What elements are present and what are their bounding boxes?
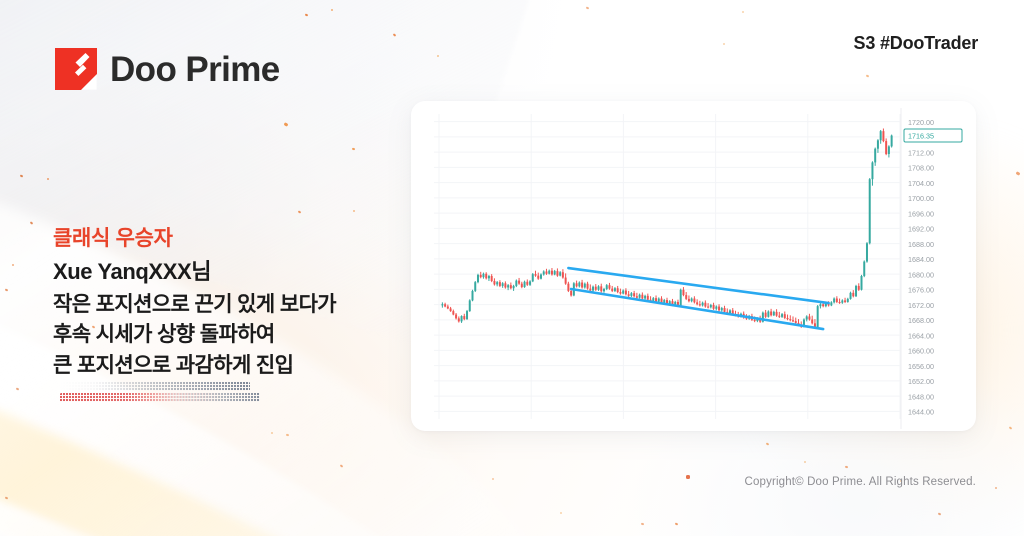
price-tick-label: 1676.00: [908, 286, 934, 295]
candle-body: [499, 282, 501, 286]
candle-body: [729, 310, 731, 313]
candle-body: [488, 276, 490, 278]
confetti-speck: [675, 523, 679, 526]
candle-body: [855, 286, 857, 296]
candle-body: [537, 276, 539, 279]
doo-prime-mark-icon: [55, 48, 97, 90]
candle-body: [819, 304, 821, 306]
candle-body: [540, 275, 542, 279]
confetti-speck: [866, 74, 870, 77]
candle-body: [559, 272, 561, 275]
price-tick-label: 1712.00: [908, 148, 934, 157]
candle-body: [598, 286, 600, 289]
candle-body: [778, 316, 780, 317]
confetti-speck: [298, 210, 302, 213]
candle-body: [808, 316, 810, 319]
candle-body: [647, 296, 649, 300]
candle-body: [644, 296, 646, 299]
candle-body: [811, 319, 813, 323]
redacted-detail-bar: [60, 382, 260, 408]
candle-body: [441, 304, 443, 305]
confetti-speck: [12, 264, 14, 266]
candle-body: [781, 314, 783, 317]
price-tick-label: 1656.00: [908, 362, 934, 371]
candle-body: [576, 283, 578, 286]
price-tick-label: 1720.00: [908, 118, 934, 127]
candle-body: [877, 140, 879, 148]
candle-body: [567, 284, 569, 291]
trading-chart-card: 1720.001716.001712.001708.001704.001700.…: [411, 101, 976, 431]
candle-body: [455, 315, 457, 319]
candle-body: [784, 314, 786, 318]
candle-body: [718, 307, 720, 311]
redaction-gray-row-2: [155, 393, 260, 402]
candle-body: [587, 284, 589, 289]
candle-body: [885, 141, 887, 154]
candle-body: [548, 271, 550, 274]
candle-body: [628, 294, 630, 296]
confetti-speck: [271, 432, 273, 434]
candle-body: [562, 272, 564, 277]
candle-body: [691, 299, 693, 302]
confetti-speck: [353, 210, 355, 212]
candle-body: [543, 271, 545, 274]
candle-body: [524, 282, 526, 287]
price-tick-label: 1680.00: [908, 270, 934, 279]
candle-body: [603, 289, 605, 291]
price-tick-label: 1700.00: [908, 194, 934, 203]
price-tick-label: 1660.00: [908, 347, 934, 356]
candle-body: [713, 305, 715, 309]
candle-body: [721, 308, 723, 310]
candle-body: [863, 262, 865, 276]
candle-body: [496, 282, 498, 284]
candle-body: [482, 274, 484, 277]
candle-body: [600, 286, 602, 291]
candle-body: [882, 131, 884, 141]
award-description-line-1: 작은 포지션으로 끈기 있게 보다가: [53, 290, 336, 320]
candle-body: [444, 304, 446, 306]
candle-body: [850, 293, 852, 299]
candle-body: [693, 299, 695, 303]
candle-body: [474, 282, 476, 291]
candle-body: [578, 283, 580, 287]
candle-body: [502, 283, 504, 286]
candle-body: [565, 278, 567, 284]
candle-body: [556, 271, 558, 276]
candle-body: [529, 281, 531, 284]
candle-body: [663, 300, 665, 303]
candle-body: [625, 291, 627, 295]
candle-body: [447, 307, 449, 309]
price-tick-label: 1644.00: [908, 408, 934, 417]
candle-body: [507, 285, 509, 287]
candle-body: [570, 291, 572, 296]
candle-body: [521, 284, 523, 287]
candle-body: [491, 276, 493, 281]
candle-body: [871, 162, 873, 179]
confetti-speck: [20, 174, 24, 177]
candle-body: [518, 281, 520, 284]
candle-body: [844, 300, 846, 302]
candle-body: [608, 285, 610, 288]
confetti-speck: [804, 461, 806, 463]
confetti-speck: [16, 387, 20, 390]
chart-canvas[interactable]: 1720.001716.001712.001708.001704.001700.…: [411, 101, 976, 431]
candle-body: [891, 136, 893, 147]
redaction-gray-row: [60, 382, 250, 391]
candle-body: [463, 316, 465, 319]
confetti-speck: [47, 178, 49, 180]
winner-name: Xue YanqXXX님: [53, 258, 336, 287]
candle-body: [699, 304, 701, 305]
candle-body: [858, 286, 860, 290]
price-tick-label: 1664.00: [908, 331, 934, 340]
price-tick-label: 1708.00: [908, 164, 934, 173]
candle-body: [461, 316, 463, 321]
confetti-speck: [5, 289, 9, 292]
candle-body: [847, 299, 849, 302]
candle-body: [770, 311, 772, 315]
candle-body: [551, 271, 553, 275]
candle-body: [545, 271, 547, 273]
candle-body: [622, 291, 624, 294]
candle-body: [581, 283, 583, 288]
candle-body: [817, 306, 819, 327]
candle-body: [888, 146, 890, 154]
candle-body: [554, 271, 556, 274]
descending-channel-lower: [571, 289, 823, 329]
candle-body: [452, 311, 454, 314]
candle-body: [504, 283, 506, 287]
award-title: 클래식 우승자: [53, 226, 336, 252]
candle-body: [767, 311, 769, 316]
candle-body: [874, 149, 876, 163]
confetti-speck: [845, 466, 848, 469]
candle-body: [477, 275, 479, 282]
candle-body: [680, 290, 682, 306]
candle-body: [652, 298, 654, 301]
award-copy-block: 클래식 우승자 Xue YanqXXX님 작은 포지션으로 끈기 있게 보다가 …: [53, 226, 336, 381]
confetti-speck: [331, 9, 333, 11]
candle-body: [789, 319, 791, 320]
price-axis-labels: 1720.001716.001712.001708.001704.001700.…: [908, 118, 934, 417]
candle-body: [458, 318, 460, 321]
confetti-speck: [437, 55, 439, 57]
candle-body: [795, 321, 797, 323]
candle-body: [592, 287, 594, 291]
candle-body: [450, 308, 452, 311]
price-tick-label: 1688.00: [908, 240, 934, 249]
candle-body: [589, 289, 591, 291]
copyright-text: Copyright© Doo Prime. All Rights Reserve…: [745, 476, 976, 488]
candle-body: [493, 281, 495, 284]
candle-body: [715, 307, 717, 309]
candle-body: [836, 299, 838, 302]
confetti-speck: [686, 475, 690, 479]
confetti-speck: [586, 7, 590, 10]
candle-body: [707, 307, 709, 308]
candle-body: [485, 274, 487, 279]
candle-body: [641, 295, 643, 299]
last-price-marker: 1716.35: [904, 129, 962, 142]
candle-body: [510, 285, 512, 288]
candle-body: [869, 179, 871, 243]
candle-body: [513, 286, 515, 288]
last-price-label: 1716.35: [908, 132, 934, 141]
confetti-speck: [305, 14, 309, 17]
candle-body: [776, 312, 778, 316]
candle-body: [480, 275, 482, 277]
confetti-speck: [286, 434, 289, 437]
candle-body: [630, 293, 632, 296]
candle-body: [822, 304, 824, 306]
candle-body: [704, 303, 706, 307]
award-description-line-3: 큰 포지션으로 과감하게 진입: [53, 351, 336, 381]
price-tick-label: 1672.00: [908, 301, 934, 310]
winner-announcement-card: Doo Prime S3 #DooTrader 클래식 우승자 Xue Yanq…: [0, 0, 1024, 536]
confetti-speck: [492, 478, 494, 480]
price-tick-label: 1652.00: [908, 377, 934, 386]
price-tick-label: 1692.00: [908, 225, 934, 234]
brand-logo: Doo Prime: [55, 48, 280, 90]
confetti-speck: [723, 43, 725, 45]
price-tick-label: 1696.00: [908, 209, 934, 218]
candle-body: [688, 299, 690, 301]
candle-body: [852, 293, 854, 296]
candle-body: [535, 274, 537, 276]
candle-body: [696, 302, 698, 304]
candle-body: [614, 288, 616, 291]
confetti-speck: [393, 33, 397, 36]
candle-body: [806, 316, 808, 319]
candle-body: [866, 243, 868, 261]
confetti-speck: [284, 122, 289, 127]
candle-body: [469, 300, 471, 311]
candle-body: [710, 305, 712, 307]
candle-body: [841, 300, 843, 302]
confetti-speck: [30, 221, 34, 224]
confetti-speck: [766, 442, 770, 445]
confetti-speck: [742, 11, 744, 13]
price-tick-label: 1684.00: [908, 255, 934, 264]
candle-body: [595, 287, 597, 290]
candle-body: [724, 308, 726, 312]
candle-body: [617, 288, 619, 292]
confetti-speck: [340, 464, 344, 467]
candle-body: [765, 313, 767, 317]
confetti-speck: [1016, 171, 1021, 176]
confetti-speck: [352, 148, 355, 151]
season-hashtag: S3 #DooTrader: [854, 33, 978, 54]
candle-body: [636, 296, 638, 298]
candle-body: [787, 318, 789, 319]
confetti-speck: [995, 487, 997, 489]
confetti-speck: [1009, 426, 1013, 429]
candle-body: [880, 131, 882, 140]
candle-body: [830, 302, 832, 305]
candle-body: [702, 303, 704, 306]
candle-body: [639, 295, 641, 298]
candle-body: [839, 302, 841, 303]
confetti-speck: [560, 512, 562, 514]
price-tick-label: 1648.00: [908, 392, 934, 401]
candle-body: [532, 274, 534, 281]
candle-body: [606, 285, 608, 289]
chart-gridlines: [434, 114, 900, 419]
candle-body: [584, 284, 586, 288]
candle-body: [833, 299, 835, 303]
candle-body: [685, 295, 687, 299]
price-tick-label: 1668.00: [908, 316, 934, 325]
candle-body: [619, 292, 621, 294]
confetti-speck: [938, 512, 942, 515]
confetti-speck: [641, 523, 644, 526]
candle-body: [466, 311, 468, 319]
candle-body: [611, 289, 613, 291]
candle-body: [658, 299, 660, 302]
candle-body: [861, 276, 863, 290]
price-tick-label: 1704.00: [908, 179, 934, 188]
candle-body: [754, 320, 756, 321]
award-description-line-2: 후속 시세가 상향 돌파하여: [53, 320, 336, 350]
candle-body: [682, 290, 684, 295]
candle-body: [773, 312, 775, 315]
confetti-speck: [5, 497, 9, 500]
candle-body: [633, 293, 635, 296]
candle-body: [472, 291, 474, 301]
candle-body: [526, 282, 528, 285]
candle-body: [792, 320, 794, 321]
brand-name: Doo Prime: [110, 52, 280, 87]
candle-body: [515, 281, 517, 286]
